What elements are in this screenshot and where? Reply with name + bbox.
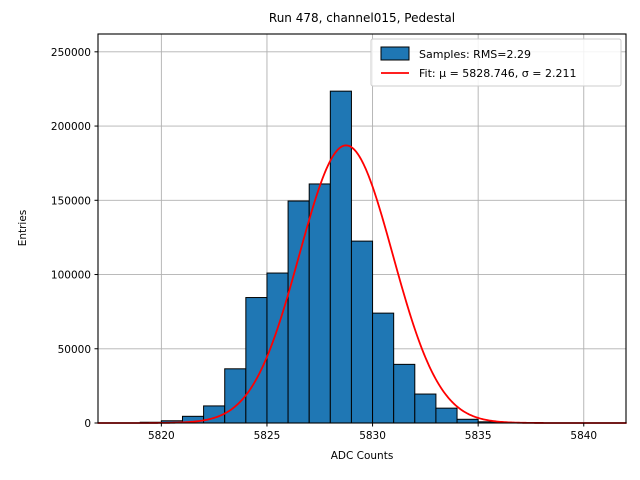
histogram-bar [309,184,330,423]
y-tick-label: 100000 [51,270,91,282]
y-axis-ticks: 050000100000150000200000250000 [51,47,98,430]
x-axis-label: ADC Counts [331,450,394,462]
histogram-bar [246,298,267,423]
histogram-bar [351,241,372,423]
y-tick-label: 0 [84,418,91,430]
y-tick-label: 250000 [51,47,91,59]
histogram-chart: Run 478, channel015, Pedestal 0500001000… [0,0,640,480]
x-tick-label: 5820 [148,430,175,442]
x-tick-label: 5825 [254,430,281,442]
y-axis-label: Entries [17,210,29,247]
legend-swatch-samples [381,47,409,60]
histogram-bar [415,394,436,423]
histogram-bar [436,408,457,423]
x-axis-ticks: 58205825583058355840 [148,423,597,442]
y-tick-label: 200000 [51,121,91,133]
y-tick-label: 150000 [51,195,91,207]
histogram-bar [225,369,246,423]
y-tick-label: 50000 [58,344,91,356]
chart-title: Run 478, channel015, Pedestal [269,11,455,25]
x-tick-label: 5840 [570,430,597,442]
histogram-bar [330,91,351,423]
x-tick-label: 5835 [465,430,492,442]
histogram-bars [140,91,520,423]
histogram-bar [288,201,309,423]
chart-legend: Samples: RMS=2.29 Fit: μ = 5828.746, σ =… [371,39,621,86]
histogram-bar [457,419,478,423]
legend-label-fit: Fit: μ = 5828.746, σ = 2.211 [419,67,576,80]
histogram-bar [394,364,415,423]
figure-canvas: Run 478, channel015, Pedestal 0500001000… [0,0,640,480]
x-tick-label: 5830 [359,430,386,442]
histogram-bar [373,313,394,423]
legend-label-samples: Samples: RMS=2.29 [419,48,531,61]
